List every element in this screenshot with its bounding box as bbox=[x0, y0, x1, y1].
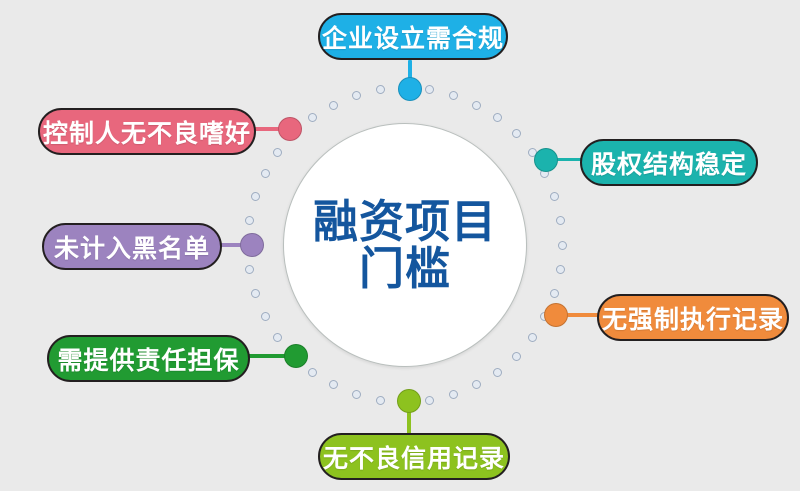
ring-dot bbox=[512, 129, 521, 138]
pill-guarantee[interactable]: 需提供责任担保 bbox=[47, 335, 250, 382]
ring-dot bbox=[352, 390, 361, 399]
pill-label: 控制人无不良嗜好 bbox=[43, 114, 251, 150]
ring-dot bbox=[449, 390, 458, 399]
ring-dot bbox=[472, 101, 481, 110]
ring-dot bbox=[449, 91, 458, 100]
pill-no-bad-credit[interactable]: 无不良信用记录 bbox=[318, 433, 510, 480]
ring-dot bbox=[308, 368, 317, 377]
pill-compliance[interactable]: 企业设立需合规 bbox=[318, 13, 508, 60]
ring-dot bbox=[550, 289, 559, 298]
pill-label: 企业设立需合规 bbox=[322, 19, 504, 55]
ring-dot bbox=[308, 113, 317, 122]
ring-dot bbox=[245, 265, 254, 274]
pill-label: 需提供责任担保 bbox=[57, 341, 239, 377]
ring-dot bbox=[261, 312, 270, 321]
ring-dot bbox=[251, 289, 260, 298]
ring-dot bbox=[512, 352, 521, 361]
ring-dot bbox=[556, 216, 565, 225]
pill-not-blacklisted[interactable]: 未计入黑名单 bbox=[42, 223, 222, 270]
pill-label: 股权结构稳定 bbox=[591, 145, 747, 181]
ring-dot bbox=[528, 333, 537, 342]
ring-dot bbox=[425, 85, 434, 94]
pill-label: 未计入黑名单 bbox=[54, 229, 210, 265]
ring-dot bbox=[376, 85, 385, 94]
ring-dot bbox=[472, 380, 481, 389]
pill-label: 无强制执行记录 bbox=[602, 300, 784, 336]
connector-node-stable-equity[interactable] bbox=[534, 148, 558, 172]
connector-node-no-enforcement[interactable] bbox=[544, 303, 568, 327]
connector-node-no-bad-credit[interactable] bbox=[397, 389, 421, 413]
connector-node-no-bad-habits[interactable] bbox=[278, 117, 302, 141]
ring-dot bbox=[425, 396, 434, 405]
connector-node-guarantee[interactable] bbox=[284, 344, 308, 368]
ring-dot bbox=[376, 396, 385, 405]
ring-dot bbox=[273, 333, 282, 342]
pill-label: 无不良信用记录 bbox=[323, 439, 505, 475]
ring-dot bbox=[245, 216, 254, 225]
ring-dot bbox=[329, 380, 338, 389]
ring-dot bbox=[558, 241, 567, 250]
ring-dot bbox=[556, 265, 565, 274]
page-title: 融资项目 门槛 bbox=[313, 198, 497, 293]
pill-no-bad-habits[interactable]: 控制人无不良嗜好 bbox=[38, 108, 256, 155]
ring-dot bbox=[329, 101, 338, 110]
ring-dot bbox=[550, 192, 559, 201]
ring-dot bbox=[273, 148, 282, 157]
ring-dot bbox=[251, 192, 260, 201]
ring-dot bbox=[493, 113, 502, 122]
ring-dot bbox=[261, 169, 270, 178]
ring-dot bbox=[352, 91, 361, 100]
pill-stable-equity[interactable]: 股权结构稳定 bbox=[580, 139, 758, 186]
connector-node-compliance[interactable] bbox=[398, 77, 422, 101]
diagram-canvas: 融资项目 门槛 企业设立需合规控制人无不良嗜好股权结构稳定未计入黑名单无强制执行… bbox=[0, 0, 800, 491]
pill-no-enforcement[interactable]: 无强制执行记录 bbox=[597, 294, 789, 341]
center-hub: 融资项目 门槛 bbox=[283, 123, 527, 367]
ring-dot bbox=[493, 368, 502, 377]
connector-node-not-blacklisted[interactable] bbox=[240, 233, 264, 257]
